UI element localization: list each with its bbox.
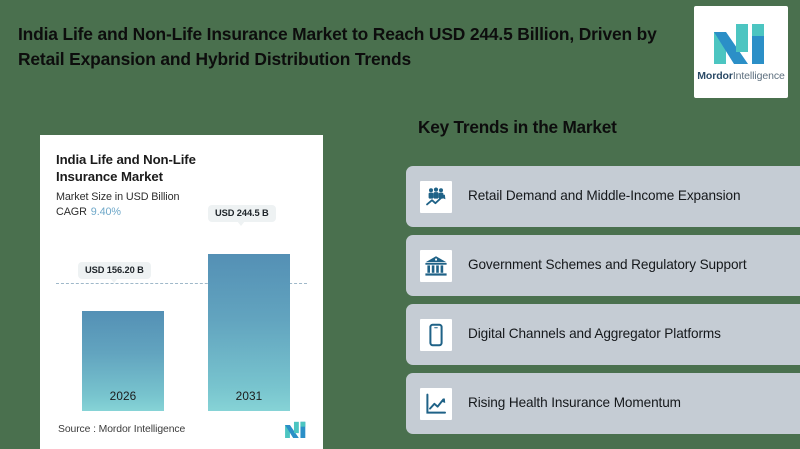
trend-card-retail-demand[interactable]: Retail Demand and Middle-Income Expansio…: [406, 166, 800, 227]
brand-logo-text: MordorIntelligence: [697, 70, 784, 82]
header: India Life and Non-Life Insurance Market…: [0, 0, 800, 106]
trend-card-label: Government Schemes and Regulatory Suppor…: [468, 256, 747, 274]
bar-label-2026: USD 156.20 B: [78, 262, 151, 279]
trend-card-digital-channels[interactable]: Digital Channels and Aggregator Platform…: [406, 304, 800, 365]
cagr-label: CAGR: [56, 206, 87, 218]
line-chart-up-icon: [420, 388, 452, 420]
source-text: Source : Mordor Intelligence: [58, 424, 185, 435]
cagr-value: 9.40%: [91, 206, 121, 218]
trend-card-government-schemes[interactable]: Government Schemes and Regulatory Suppor…: [406, 235, 800, 296]
chart-subtitle: Market Size in USD Billion: [56, 191, 307, 203]
people-growth-chart-icon: [420, 181, 452, 213]
bar-chart-plot: USD 156.20 B 2026 USD 244.5 B 2031: [56, 221, 307, 411]
smartphone-icon: [420, 319, 452, 351]
bank-building-icon: [420, 250, 452, 282]
trends-heading: Key Trends in the Market: [418, 117, 617, 138]
bar-label-2031: USD 244.5 B: [208, 205, 276, 222]
x-axis-label-2026: 2026: [82, 389, 164, 403]
mordor-mark-icon: [712, 22, 770, 64]
brand-name-bold: Mordor: [697, 70, 733, 82]
trend-card-label: Retail Demand and Middle-Income Expansio…: [468, 187, 740, 205]
chart-source-row: Source : Mordor Intelligence: [58, 421, 308, 438]
x-axis-label-2031: 2031: [208, 389, 290, 403]
trend-card-list: Retail Demand and Middle-Income Expansio…: [406, 166, 800, 442]
page-title: India Life and Non-Life Insurance Market…: [18, 22, 658, 71]
brand-name-light: Intelligence: [733, 70, 785, 82]
trend-card-label: Digital Channels and Aggregator Platform…: [468, 325, 721, 343]
trend-card-label: Rising Health Insurance Momentum: [468, 394, 681, 412]
chart-title: India Life and Non-Life Insurance Market: [56, 151, 256, 186]
chart-panel: India Life and Non-Life Insurance Market…: [40, 135, 323, 449]
trend-card-health-insurance[interactable]: Rising Health Insurance Momentum: [406, 373, 800, 434]
bar-2031: [208, 254, 290, 411]
brand-logo: MordorIntelligence: [694, 6, 788, 98]
mordor-mark-icon-small: [284, 421, 308, 438]
